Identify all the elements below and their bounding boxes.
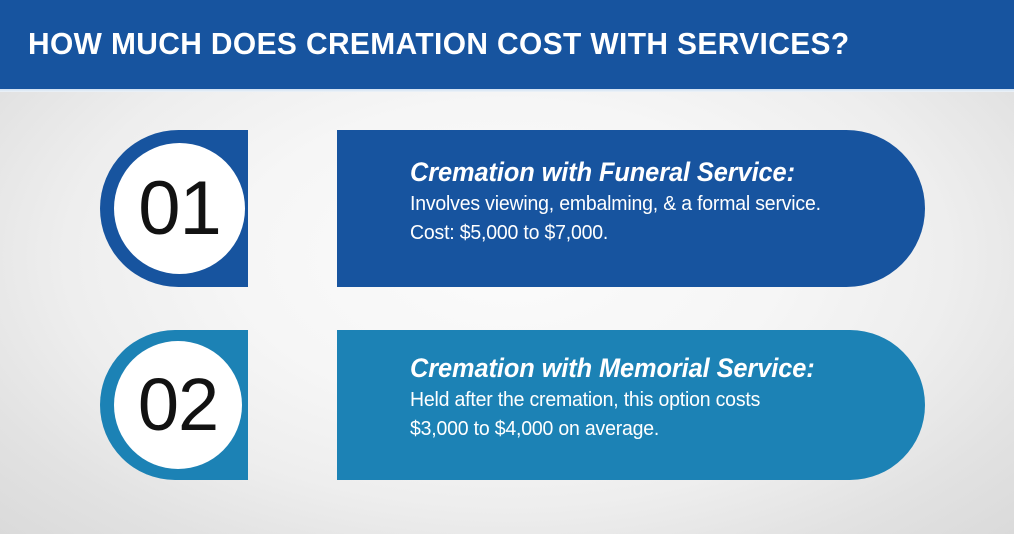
header-bar: HOW MUCH DOES CREMATION COST WITH SERVIC… [0, 0, 1014, 89]
infographic-canvas: HOW MUCH DOES CREMATION COST WITH SERVIC… [0, 0, 1014, 534]
row-badge-block: 01 [100, 130, 248, 287]
page-title: HOW MUCH DOES CREMATION COST WITH SERVIC… [28, 26, 850, 62]
row-number-circle: 02 [114, 341, 242, 469]
row-badge-block: 02 [100, 330, 248, 480]
list-item: 01 Cremation with Funeral Service: Invol… [100, 130, 925, 287]
row-text-block: Cremation with Memorial Service: Held af… [337, 330, 925, 480]
row-body-line-2: $3,000 to $4,000 on average. [410, 414, 861, 443]
row-number-label: 01 [138, 171, 221, 247]
row-body-line-2: Cost: $5,000 to $7,000. [410, 218, 861, 247]
row-text-block: Cremation with Funeral Service: Involves… [337, 130, 925, 287]
row-body-line-1: Held after the cremation, this option co… [410, 385, 861, 414]
row-title: Cremation with Memorial Service: [410, 352, 857, 385]
row-number-label: 02 [138, 368, 218, 442]
header-underline-divider [0, 89, 1014, 92]
list-item: 02 Cremation with Memorial Service: Held… [100, 330, 925, 480]
row-title: Cremation with Funeral Service: [410, 156, 857, 189]
row-number-circle: 01 [114, 143, 245, 274]
row-body-line-1: Involves viewing, embalming, & a formal … [410, 189, 861, 218]
